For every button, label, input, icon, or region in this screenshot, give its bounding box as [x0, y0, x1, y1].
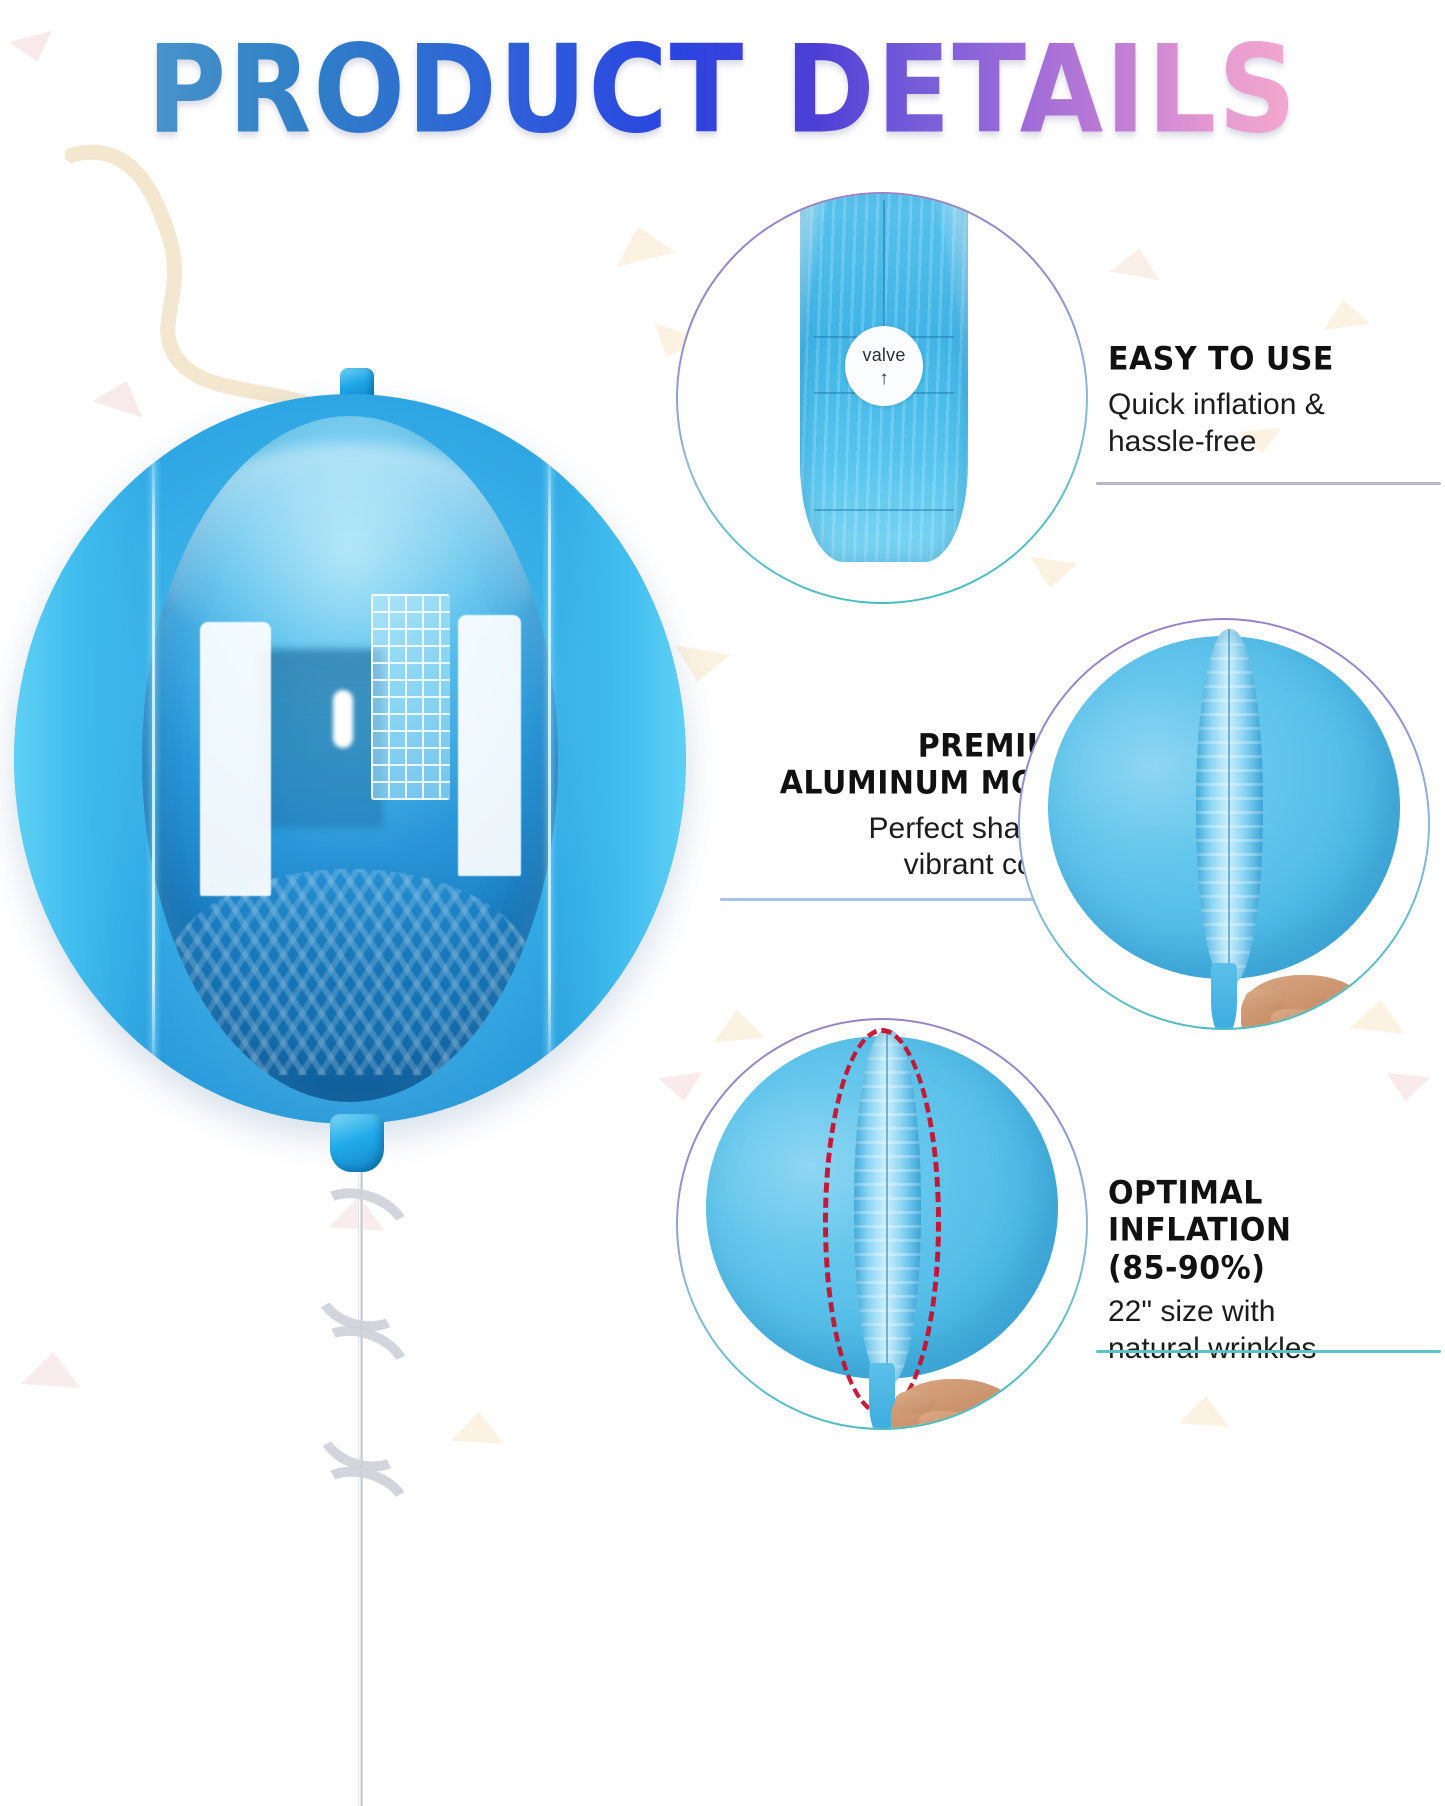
finger — [919, 1411, 967, 1428]
balloon-seam-left — [152, 409, 155, 1110]
balloon-bottom-tab — [330, 1114, 384, 1172]
finger — [1245, 989, 1285, 1011]
reflection-window-pane — [200, 622, 271, 896]
feature-3-subtitle: 22" size with natural wrinkles — [1108, 1294, 1438, 1367]
feature-3-subtitle-line-1: 22" size with — [1108, 1294, 1438, 1331]
feature-1-subtitle-line-1: Quick inflation & — [1108, 387, 1436, 424]
balloon-valve-tail: valve ↑ — [800, 194, 968, 562]
feature-1-image-circle: valve ↑ — [676, 192, 1088, 604]
feature-3-image-circle — [676, 1018, 1088, 1430]
reflection-room-shadow — [258, 649, 383, 827]
reflection-floor-tiles — [167, 869, 534, 1075]
page-title-text: PRODUCT DETAILS — [147, 27, 1298, 154]
feature-easy-to-use: valve ↑ EASY TO USE Quick inflation & ha… — [676, 192, 1436, 622]
reflection-window-pane — [458, 615, 520, 876]
feature-2-image-circle — [1018, 618, 1430, 1030]
valve-up-arrow-icon: ↑ — [879, 369, 889, 388]
feature-3-title: OPTIMAL INFLATION (85-90%) — [1108, 1175, 1438, 1288]
valve-label-text: valve — [863, 345, 906, 366]
tail-crease-line — [814, 509, 955, 511]
finger — [895, 1391, 935, 1413]
feature-2-divider — [720, 898, 1082, 901]
confetti-triangle — [609, 219, 675, 267]
feature-1-subtitle-line-2: hassle-free — [1108, 424, 1436, 461]
feature-optimal-inflation: OPTIMAL INFLATION (85-90%) 22" size with… — [676, 1018, 1436, 1446]
feature-3-title-line-1: OPTIMAL INFLATION — [1108, 1175, 1438, 1250]
feature-1-text-block: EASY TO USE Quick inflation & hassle-fre… — [1108, 342, 1436, 461]
balloon-center-gusset — [1196, 629, 1263, 986]
feature-2-title-line-1: PREMIUM — [690, 728, 1082, 766]
page-title: PRODUCT DETAILS PRODUCT DETAILS — [0, 34, 1445, 147]
feature-1-title: EASY TO USE — [1108, 341, 1436, 379]
hero-balloon-image — [8, 360, 668, 1440]
balloon-seam-right — [548, 409, 551, 1110]
valve-label-dot: valve ↑ — [845, 326, 923, 406]
feature-1-divider — [1096, 482, 1441, 485]
feature-3-divider — [1096, 1350, 1441, 1353]
balloon-mirror-dome — [142, 416, 559, 1102]
balloon-sphere — [14, 394, 686, 1124]
feature-3-text-block: OPTIMAL INFLATION (85-90%) 22" size with… — [1108, 1178, 1438, 1367]
curling-ribbon-segment — [302, 1455, 420, 1552]
feature-premium-aluminum-mold: PREMIUM ALUMINUM MOLD Perfect shape & vi… — [690, 618, 1445, 1048]
feature-1-subtitle: Quick inflation & hassle-free — [1108, 387, 1436, 460]
reflection-window-grid — [371, 594, 450, 800]
feature-3-title-line-2: (85-90%) — [1108, 1250, 1438, 1288]
wrinkle-highlight-ellipse — [823, 1028, 942, 1416]
uninflated-balloon — [1048, 636, 1400, 979]
reflection-specular-highlight — [333, 690, 353, 748]
gusset-seam-line — [1228, 629, 1230, 986]
